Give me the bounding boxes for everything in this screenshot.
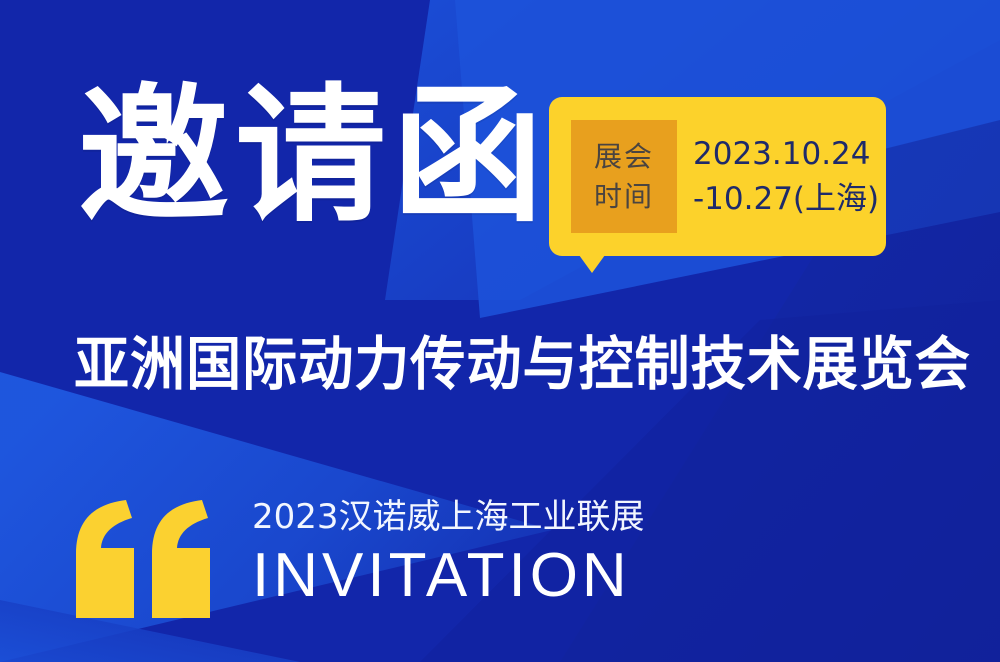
date-label-line-1: 展会 [594,137,654,177]
event-name-subtitle: 亚洲国际动力传动与控制技术展览会 [74,330,971,398]
date-label-line-2: 时间 [594,177,654,217]
date-label-box: 展会 时间 [571,120,677,233]
invitation-word: INVITATION [252,545,645,607]
event-date-line-1: 2023.10.24 [693,132,879,177]
bottom-text-block: 2023汉诺威上海工业联展 INVITATION [252,498,645,607]
event-date-callout: 展会 时间 2023.10.24 -10.27(上海) [549,97,886,256]
page-title: 邀请函 [78,82,549,230]
event-date-line-2: -10.27(上海) [693,177,879,222]
invitation-poster: 邀请函 展会 时间 2023.10.24 -10.27(上海) 亚洲国际动力传动… [0,0,1000,662]
quote-mark-icon [72,498,220,620]
fair-name-chinese: 2023汉诺威上海工业联展 [252,498,645,537]
event-dates: 2023.10.24 -10.27(上海) [693,132,879,222]
